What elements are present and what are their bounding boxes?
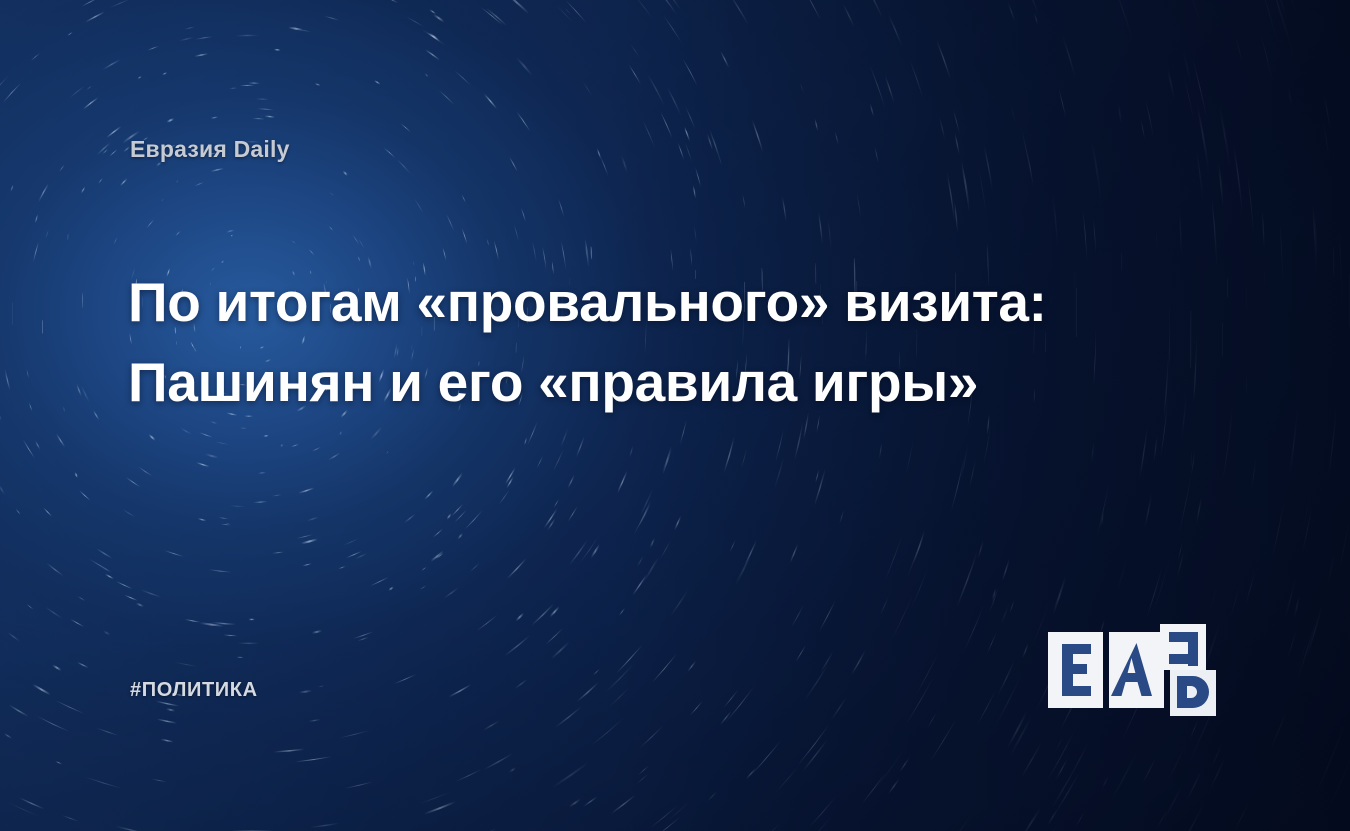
site-brand-name: Евразия Daily (130, 136, 290, 163)
headline-line-2: Пашинян и его «правила игры» (128, 342, 1108, 422)
article-cover-card: Евразия Daily По итогам «провального» ви… (0, 0, 1350, 831)
eadaily-logo[interactable] (1048, 624, 1228, 716)
headline-line-1: По итогам «провального» визита: (128, 262, 1108, 342)
headline: По итогам «провального» визита: Пашинян … (128, 262, 1108, 422)
logo-letter-e (1062, 644, 1091, 696)
category-tag-politics[interactable]: #ПОЛИТИКА (130, 679, 258, 702)
